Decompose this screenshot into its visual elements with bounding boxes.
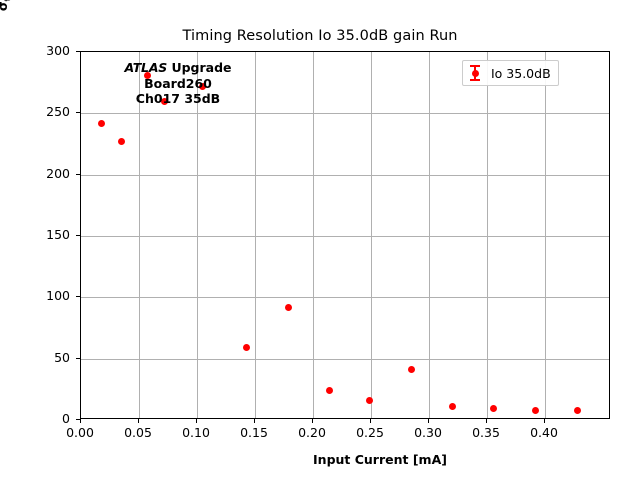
x-axis-tick (486, 419, 487, 423)
data-point (532, 407, 539, 414)
gridline-horizontal (81, 175, 609, 176)
x-axis-tick-label: 0.25 (340, 425, 400, 440)
y-axis-tick (76, 51, 80, 52)
data-point (161, 98, 168, 105)
x-axis-tick (196, 419, 197, 423)
y-axis-tick-label: 300 (20, 43, 70, 58)
data-point (490, 405, 497, 412)
data-point (408, 366, 415, 373)
gridline-horizontal (81, 297, 609, 298)
y-axis-tick-label: 50 (20, 350, 70, 365)
x-axis-tick-label: 0.10 (166, 425, 226, 440)
y-axis-tick-label: 0 (20, 411, 70, 426)
x-axis-tick (80, 419, 81, 423)
y-axis-tick-label: 100 (20, 288, 70, 303)
x-axis-tick-label: 0.00 (50, 425, 110, 440)
x-axis-tick-label: 0.20 (282, 425, 342, 440)
y-axis-tick-label: 250 (20, 104, 70, 119)
gridline-horizontal (81, 113, 609, 114)
x-axis-tick (370, 419, 371, 423)
y-axis-tick (76, 235, 80, 236)
y-axis-tick (76, 419, 80, 420)
data-point (199, 83, 206, 90)
data-point (449, 403, 456, 410)
x-axis-tick-label: 0.30 (398, 425, 458, 440)
x-axis-tick-label: 0.35 (456, 425, 516, 440)
data-point (574, 407, 581, 414)
x-axis-tick-label: 0.40 (514, 425, 574, 440)
y-axis-tick-label: 200 (20, 166, 70, 181)
data-point (285, 304, 292, 311)
x-axis-tick (544, 419, 545, 423)
legend-errorbar-marker-icon (468, 65, 482, 81)
chart-title: Timing Resolution Io 35.0dB gain Run (0, 28, 640, 44)
x-axis-tick-label: 0.05 (108, 425, 168, 440)
y-axis-tick (76, 296, 80, 297)
data-point (326, 387, 333, 394)
data-point (366, 397, 373, 404)
gridline-vertical (371, 52, 372, 418)
y-axis-tick (76, 174, 80, 175)
x-axis-tick (312, 419, 313, 423)
data-point (144, 72, 151, 79)
x-axis-tick (138, 419, 139, 423)
x-axis-tick (428, 419, 429, 423)
y-axis-tick-label: 150 (20, 227, 70, 242)
gridline-horizontal (81, 236, 609, 237)
data-point (243, 344, 250, 351)
gridline-vertical (197, 52, 198, 418)
gridline-horizontal (81, 359, 609, 360)
x-axis-label: Input Current [mA] (0, 452, 640, 467)
figure-canvas: Timing Resolution Io 35.0dB gain Run σt … (0, 0, 640, 480)
legend-label-0: Io 35.0dB (491, 66, 551, 81)
gridline-vertical (139, 52, 140, 418)
y-axis-tick (76, 358, 80, 359)
x-axis-tick (254, 419, 255, 423)
y-axis-label-subscript: t (4, 0, 14, 1)
y-axis-tick (76, 112, 80, 113)
gridline-vertical (255, 52, 256, 418)
y-axis-label-sigma: σ (0, 1, 10, 11)
data-point (98, 120, 105, 127)
data-point (118, 138, 125, 145)
plot-area (80, 51, 610, 419)
legend-box[interactable]: Io 35.0dB (462, 60, 559, 86)
gridline-vertical (429, 52, 430, 418)
gridline-vertical (487, 52, 488, 418)
y-axis-label: σt [ns] (0, 0, 14, 48)
gridline-vertical (313, 52, 314, 418)
x-axis-tick-label: 0.15 (224, 425, 284, 440)
gridline-vertical (545, 52, 546, 418)
